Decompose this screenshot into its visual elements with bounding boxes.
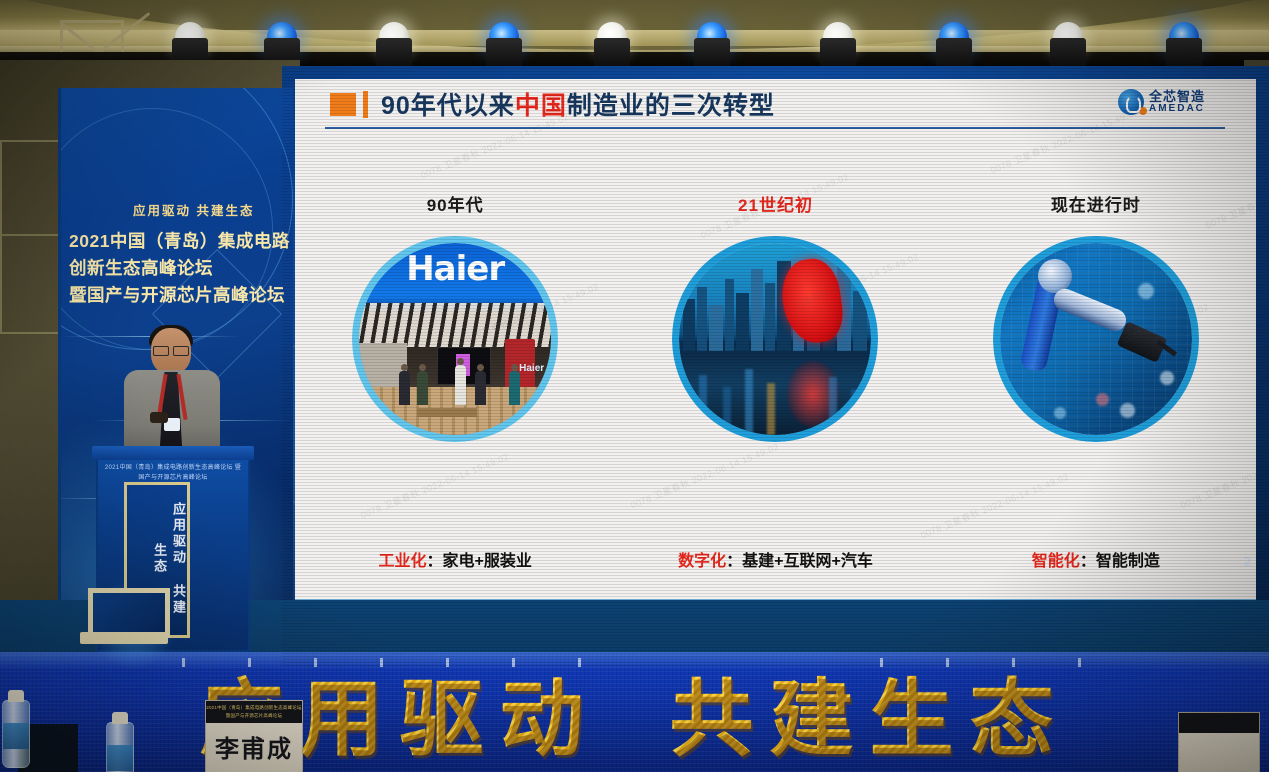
stage-light bbox=[1162, 22, 1206, 70]
banner-title-line-2: 创新生态高峰论坛 bbox=[69, 255, 293, 282]
caption-intelligentization: 智能化：智能制造 bbox=[936, 547, 1256, 587]
caption-key: 数字化 bbox=[678, 553, 726, 570]
logo-dot-icon bbox=[1139, 107, 1147, 115]
caption-value: 智能制造 bbox=[1096, 553, 1160, 570]
circle-ring bbox=[672, 236, 878, 442]
banner-tagline: 应用驱动 共建生态 bbox=[133, 200, 254, 219]
logo-name-cn: 全芯智造 bbox=[1149, 90, 1205, 104]
column-90s: 90年代 Haier Haier bbox=[295, 139, 615, 559]
caption-separator: ： bbox=[426, 553, 442, 570]
column-image-circle bbox=[672, 236, 878, 442]
led-banner-text: 应用驱动 共建生态 bbox=[0, 652, 1269, 772]
logo-name-en: AMEDAC bbox=[1149, 104, 1205, 115]
column-heading: 90年代 bbox=[427, 191, 484, 216]
stage-light bbox=[482, 22, 526, 70]
column-present: 现在进行时 bbox=[936, 139, 1256, 559]
water-bottle bbox=[2, 700, 30, 768]
slide-columns: 90年代 Haier Haier bbox=[295, 139, 1256, 559]
column-heading: 21世纪初 bbox=[738, 191, 813, 216]
led-text-right: 共建生态 bbox=[670, 652, 1070, 772]
slide-header: 90年代以来中国制造业的三次转型 全芯智造 AMEDAC bbox=[295, 79, 1256, 129]
secondary-name-card bbox=[1178, 712, 1260, 772]
stage-light bbox=[590, 22, 634, 70]
banner-title-line-1: 2021中国（青岛）集成电路 bbox=[69, 228, 293, 255]
conference-hall-photo: 0078 卫星春秋 2022-06-14 15:49:02 0078 卫星春秋 … bbox=[0, 0, 1269, 772]
accent-bar-icon bbox=[363, 91, 368, 118]
caption-value: 基建+互联网+汽车 bbox=[742, 553, 873, 570]
stage-light bbox=[816, 22, 860, 70]
column-image-circle: Haier Haier bbox=[352, 236, 558, 442]
slide-title-suffix: 制造业的三次转型 bbox=[567, 92, 775, 120]
ceiling bbox=[0, 0, 1269, 66]
slide-page-number: 2 bbox=[1244, 554, 1251, 569]
slide-canvas: 0078 卫星春秋 2022-06-14 15:49:02 0078 卫星春秋 … bbox=[295, 79, 1256, 599]
stage-light bbox=[932, 22, 976, 70]
title-underline bbox=[325, 127, 1225, 129]
microphone-icon bbox=[150, 412, 168, 423]
name-card-header-text: 2021中国（青岛）集成电路创新生态高峰论坛 暨国产与开源芯片高峰论坛 bbox=[206, 701, 302, 720]
stage-light bbox=[372, 22, 416, 70]
caption-key: 智能化 bbox=[1032, 553, 1080, 570]
circle-ring bbox=[993, 236, 1199, 442]
caption-value: 家电+服装业 bbox=[443, 553, 532, 570]
caption-separator: ： bbox=[1080, 553, 1096, 570]
caption-industrialization: 工业化：家电+服装业 bbox=[295, 547, 615, 587]
column-heading: 现在进行时 bbox=[1051, 191, 1141, 216]
slide-title-prefix: 90年代以来 bbox=[381, 92, 515, 120]
led-scrolling-banner: 应用驱动 共建生态 bbox=[0, 652, 1269, 772]
logo-mark-icon bbox=[1118, 89, 1144, 115]
caption-row: 工业化：家电+服装业 数字化：基建+互联网+汽车 智能化：智能制造 bbox=[295, 547, 1256, 587]
stage-light bbox=[690, 22, 734, 70]
glasses-icon bbox=[153, 346, 189, 354]
stage-light bbox=[1046, 22, 1090, 70]
podium-header-text: 2021中国（青岛）集成电路创新生态高峰论坛 暨国产与开源芯片高峰论坛 bbox=[104, 464, 242, 483]
slide-title-highlight: 中国 bbox=[515, 92, 567, 120]
caption-key: 工业化 bbox=[378, 553, 426, 570]
banner-title-line-3: 暨国产与开源芯片高峰论坛 bbox=[69, 282, 293, 309]
accent-square-icon bbox=[330, 93, 356, 116]
circle-ring bbox=[352, 236, 558, 442]
speaker-name-card: 2021中国（青岛）集成电路创新生态高峰论坛 暨国产与开源芯片高峰论坛 李甫成 bbox=[205, 700, 303, 772]
caption-separator: ： bbox=[726, 553, 742, 570]
slide-title: 90年代以来中国制造业的三次转型 bbox=[381, 86, 775, 122]
column-early-21c: 21世纪初 bbox=[615, 139, 935, 559]
name-card-header: 2021中国（青岛）集成电路创新生态高峰论坛 暨国产与开源芯片高峰论坛 bbox=[206, 701, 302, 723]
presentation-screen: 0078 卫星春秋 2022-06-14 15:49:02 0078 卫星春秋 … bbox=[282, 66, 1269, 666]
framed-display-stand bbox=[72, 588, 176, 652]
company-logo: 全芯智造 AMEDAC bbox=[1118, 85, 1234, 119]
banner-title: 2021中国（青岛）集成电路 创新生态高峰论坛 暨国产与开源芯片高峰论坛 bbox=[69, 228, 293, 309]
caption-digitalization: 数字化：基建+互联网+汽车 bbox=[615, 547, 935, 587]
name-card-name: 李甫成 bbox=[206, 729, 302, 764]
column-image-circle bbox=[993, 236, 1199, 442]
water-bottle bbox=[106, 722, 134, 772]
